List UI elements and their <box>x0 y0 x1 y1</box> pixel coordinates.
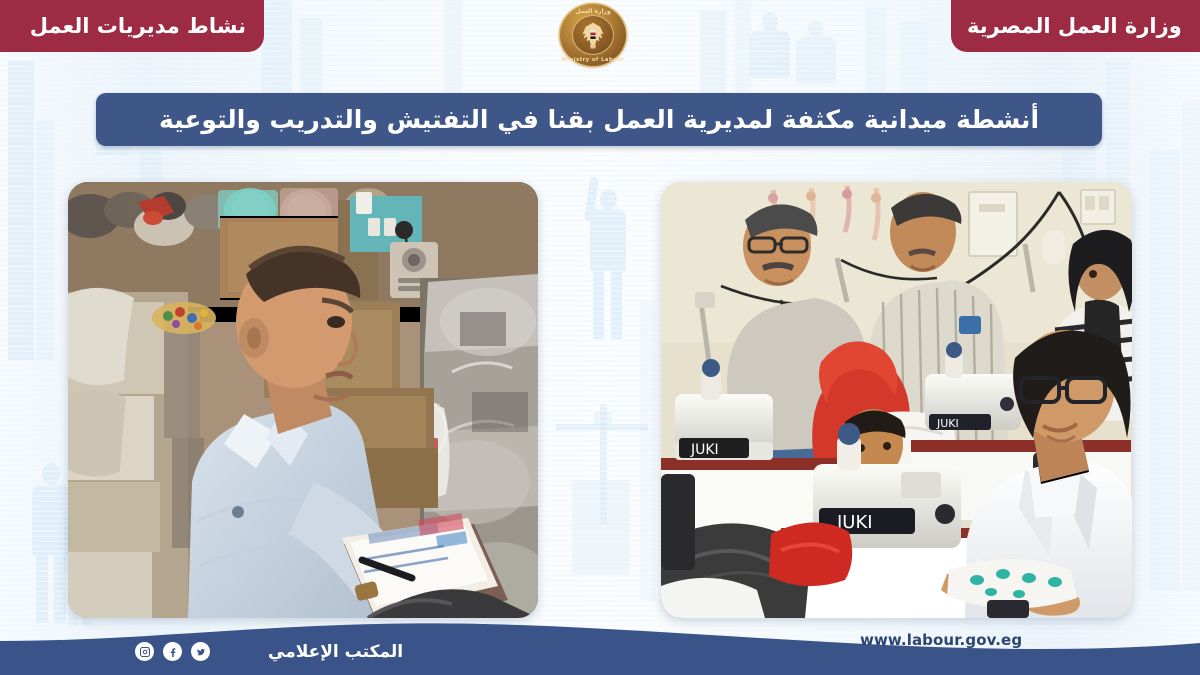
photo-right: JUKI JUKI JUKI <box>661 182 1132 618</box>
social-links[interactable] <box>135 642 210 661</box>
website-url[interactable]: www.labour.gov.eg <box>860 631 1022 649</box>
header-badge-left: نشاط مديريات العمل <box>0 0 264 52</box>
header-badge-right: وزارة العمل المصرية <box>951 0 1200 52</box>
header-right-label: وزارة العمل المصرية <box>967 14 1182 38</box>
ministry-logo-icon: وزارة العمل Ministry of Labour <box>560 4 626 66</box>
photo-left <box>68 182 538 618</box>
instagram-icon[interactable] <box>135 642 154 661</box>
logo-arabic-text: وزارة العمل <box>560 8 626 15</box>
headline-banner: أنشطة ميدانية مكثفة لمديرية العمل بقنا ف… <box>96 93 1102 146</box>
eagle-of-saladin-icon <box>580 21 606 51</box>
logo-english-text: Ministry of Labour <box>560 57 626 63</box>
svg-text:JUKI: JUKI <box>690 442 719 458</box>
poster-canvas: نشاط مديريات العمل وزارة العمل المصرية و… <box>0 0 1200 675</box>
twitter-icon[interactable] <box>191 642 210 661</box>
facebook-icon[interactable] <box>163 642 182 661</box>
svg-text:JUKI: JUKI <box>936 417 959 430</box>
photo-right-illustration: JUKI JUKI JUKI <box>661 182 1132 618</box>
page-title: أنشطة ميدانية مكثفة لمديرية العمل بقنا ف… <box>159 106 1039 134</box>
photo-left-illustration <box>68 182 538 618</box>
header-left-label: نشاط مديريات العمل <box>30 14 246 38</box>
media-office-label: المكتب الإعلامي <box>268 642 403 662</box>
